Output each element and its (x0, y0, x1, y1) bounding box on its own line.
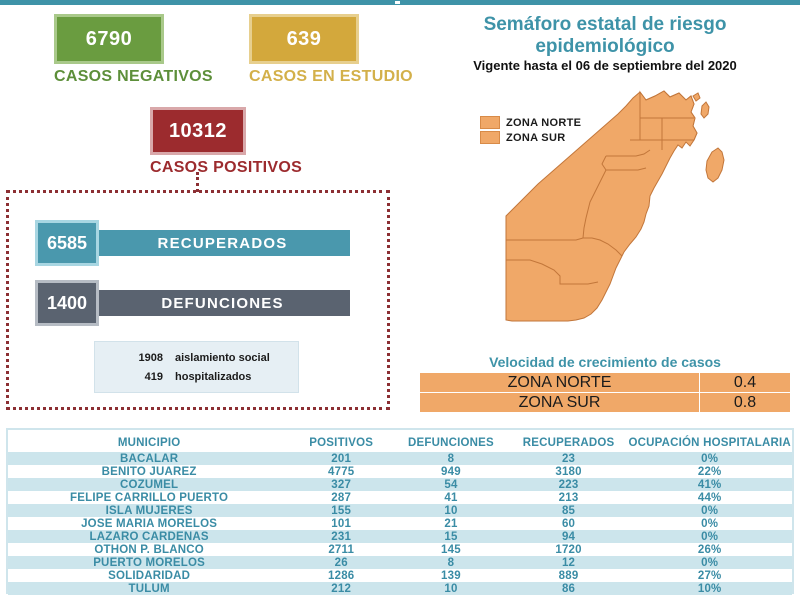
cell-municipio: BENITO JUAREZ (8, 465, 290, 478)
cell-municipio: JOSE MARIA MORELOS (8, 517, 290, 530)
cell-recuperados: 223 (510, 478, 628, 491)
map-legend: ZONA NORTE ZONA SUR (480, 116, 581, 146)
cell-defunciones: 145 (392, 543, 510, 556)
stat-label-en-estudio: CASOS EN ESTUDIO (249, 68, 413, 86)
bar-value-recuperados: 6585 (35, 220, 99, 266)
cell-recuperados: 85 (510, 504, 628, 517)
velocidad-zone-norte: ZONA NORTE (420, 373, 700, 393)
stat-label-negativos: CASOS NEGATIVOS (54, 68, 213, 86)
th-recuperados: RECUPERADOS (510, 435, 628, 452)
cell-ocupacion: 44% (627, 491, 792, 504)
substat-row: 1908 aislamiento social (95, 349, 298, 368)
cell-recuperados: 1720 (510, 543, 628, 556)
municipios-table-frame: MUNICIPIO POSITIVOS DEFUNCIONES RECUPERA… (6, 428, 794, 594)
table-row: JOSE MARIA MORELOS10121600% (8, 517, 792, 530)
table-row: SOLIDARIDAD128613988927% (8, 569, 792, 582)
cell-ocupacion: 41% (627, 478, 792, 491)
legend-swatch-icon (480, 131, 500, 144)
cell-municipio: LAZARO CARDENAS (8, 530, 290, 543)
cell-ocupacion: 0% (627, 452, 792, 465)
cell-municipio: COZUMEL (8, 478, 290, 491)
cell-defunciones: 8 (392, 452, 510, 465)
cell-positivos: 4775 (290, 465, 392, 478)
table-row: PUERTO MORELOS268120% (8, 556, 792, 569)
dashboard-page: 6790 CASOS NEGATIVOS 639 CASOS EN ESTUDI… (0, 0, 800, 600)
cell-municipio: PUERTO MORELOS (8, 556, 290, 569)
stat-value-negativos: 6790 (54, 14, 164, 64)
cell-ocupacion: 27% (627, 569, 792, 582)
top-accent-notch (395, 1, 400, 4)
semaforo-title: Semáforo estatal de riesgo epidemiológic… (420, 14, 790, 58)
positivos-connector-line (196, 172, 199, 192)
velocidad-value-sur: 0.8 (700, 393, 791, 413)
table-row: FELIPE CARRILLO PUERTO2874121344% (8, 491, 792, 504)
substat-row: 419 hospitalizados (95, 368, 298, 387)
cell-municipio: ISLA MUJERES (8, 504, 290, 517)
substats-box: 1908 aislamiento social 419 hospitalizad… (94, 341, 299, 393)
stat-label-positivos: CASOS POSITIVOS (150, 159, 302, 177)
table-row: TULUM212108610% (8, 582, 792, 595)
cell-positivos: 155 (290, 504, 392, 517)
legend-label-zona-norte: ZONA NORTE (506, 117, 581, 129)
semaforo-subtitle: Vigente hasta el 06 de septiembre del 20… (420, 58, 790, 73)
bar-value-defunciones: 1400 (35, 280, 99, 326)
legend-item-zona-sur[interactable]: ZONA SUR (480, 131, 581, 144)
velocidad-zone-sur: ZONA SUR (420, 393, 700, 413)
cell-recuperados: 86 (510, 582, 628, 595)
bar-defunciones: 1400 DEFUNCIONES (35, 280, 350, 326)
substat-value-aislamiento: 1908 (95, 349, 175, 368)
cell-positivos: 2711 (290, 543, 392, 556)
cell-recuperados: 60 (510, 517, 628, 530)
table-row: LAZARO CARDENAS23115940% (8, 530, 792, 543)
stat-value-en-estudio: 639 (249, 14, 359, 64)
cell-positivos: 212 (290, 582, 392, 595)
stat-card-negativos: 6790 CASOS NEGATIVOS (54, 14, 213, 86)
substat-value-hospitalizados: 419 (95, 368, 175, 387)
th-positivos: POSITIVOS (290, 435, 392, 452)
cell-ocupacion: 0% (627, 556, 792, 569)
cell-defunciones: 10 (392, 504, 510, 517)
legend-swatch-icon (480, 116, 500, 129)
cell-positivos: 101 (290, 517, 392, 530)
municipios-table-body: BACALAR2018230%BENITO JUAREZ477594931802… (8, 452, 792, 595)
cell-municipio: TULUM (8, 582, 290, 595)
cell-recuperados: 94 (510, 530, 628, 543)
legend-item-zona-norte[interactable]: ZONA NORTE (480, 116, 581, 129)
map-container: ZONA NORTE ZONA SUR (450, 88, 800, 350)
th-municipio: MUNICIPIO (8, 435, 290, 452)
cell-defunciones: 21 (392, 517, 510, 530)
cell-defunciones: 8 (392, 556, 510, 569)
th-ocupacion: OCUPACIÓN HOSPITALARIA (627, 435, 792, 452)
cell-municipio: SOLIDARIDAD (8, 569, 290, 582)
cell-ocupacion: 0% (627, 517, 792, 530)
table-header-row: MUNICIPIO POSITIVOS DEFUNCIONES RECUPERA… (8, 435, 792, 452)
cell-positivos: 231 (290, 530, 392, 543)
cell-defunciones: 139 (392, 569, 510, 582)
cell-municipio: BACALAR (8, 452, 290, 465)
cell-positivos: 26 (290, 556, 392, 569)
velocidad-table: ZONA NORTE 0.4 ZONA SUR 0.8 (419, 372, 791, 413)
cell-recuperados: 23 (510, 452, 628, 465)
cell-ocupacion: 10% (627, 582, 792, 595)
cell-positivos: 327 (290, 478, 392, 491)
stat-card-en-estudio: 639 CASOS EN ESTUDIO (249, 14, 413, 86)
cell-recuperados: 889 (510, 569, 628, 582)
cell-positivos: 201 (290, 452, 392, 465)
cell-recuperados: 12 (510, 556, 628, 569)
cell-ocupacion: 22% (627, 465, 792, 478)
cell-defunciones: 10 (392, 582, 510, 595)
th-defunciones: DEFUNCIONES (392, 435, 510, 452)
substat-label-aislamiento: aislamiento social (175, 349, 270, 368)
table-row: BENITO JUAREZ4775949318022% (8, 465, 792, 478)
stat-value-positivos: 10312 (150, 107, 246, 155)
table-row: COZUMEL3275422341% (8, 478, 792, 491)
cell-positivos: 1286 (290, 569, 392, 582)
velocidad-title: Velocidad de crecimiento de casos (415, 354, 795, 370)
cell-ocupacion: 0% (627, 504, 792, 517)
substat-label-hospitalizados: hospitalizados (175, 368, 251, 387)
municipios-table: MUNICIPIO POSITIVOS DEFUNCIONES RECUPERA… (8, 435, 792, 595)
cell-recuperados: 213 (510, 491, 628, 504)
cell-positivos: 287 (290, 491, 392, 504)
table-row: OTHON P. BLANCO2711145172026% (8, 543, 792, 556)
cell-ocupacion: 0% (627, 530, 792, 543)
velocidad-value-norte: 0.4 (700, 373, 791, 393)
cell-defunciones: 15 (392, 530, 510, 543)
top-accent-bar (0, 0, 800, 5)
cell-municipio: FELIPE CARRILLO PUERTO (8, 491, 290, 504)
cell-ocupacion: 26% (627, 543, 792, 556)
cell-recuperados: 3180 (510, 465, 628, 478)
table-row: BACALAR2018230% (8, 452, 792, 465)
cell-defunciones: 949 (392, 465, 510, 478)
bar-label-defunciones: DEFUNCIONES (95, 290, 350, 316)
bar-recuperados: 6585 RECUPERADOS (35, 220, 350, 266)
cell-defunciones: 41 (392, 491, 510, 504)
stat-card-positivos: 10312 CASOS POSITIVOS (150, 107, 302, 177)
table-row: ZONA NORTE 0.4 (420, 373, 791, 393)
bar-label-recuperados: RECUPERADOS (95, 230, 350, 256)
table-row: ZONA SUR 0.8 (420, 393, 791, 413)
table-row: ISLA MUJERES15510850% (8, 504, 792, 517)
legend-label-zona-sur: ZONA SUR (506, 132, 565, 144)
cell-municipio: OTHON P. BLANCO (8, 543, 290, 556)
cell-defunciones: 54 (392, 478, 510, 491)
